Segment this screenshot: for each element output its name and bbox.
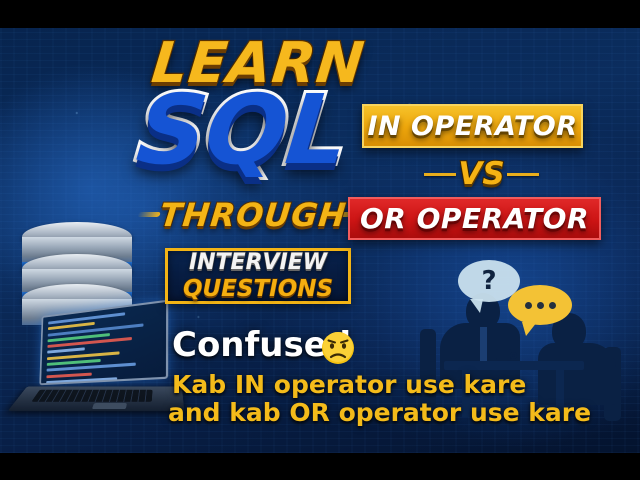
banner-in-operator: IN OPERATOR bbox=[362, 104, 583, 148]
letterbox-bar-top bbox=[0, 0, 640, 28]
question-line-2: and kab OR operator use kare bbox=[168, 400, 591, 425]
banner-or-operator: OR OPERATOR bbox=[348, 197, 601, 240]
question-line-1: Kab IN operator use kare bbox=[172, 372, 526, 397]
laptop-with-code-icon bbox=[18, 308, 183, 428]
versus-line-left bbox=[424, 173, 456, 176]
through-ray-left bbox=[137, 212, 161, 217]
bubble-dot-1 bbox=[525, 302, 532, 309]
dots-speech-bubble bbox=[508, 285, 572, 325]
laptop-keyboard bbox=[31, 390, 152, 402]
confused-face-emoji bbox=[320, 330, 356, 366]
versus-line-right bbox=[507, 173, 539, 176]
youtube-thumbnail: ? LEARN SQL THROUGH INTERVIEW QUESTIONS … bbox=[0, 0, 640, 480]
coffee-cup bbox=[496, 349, 511, 361]
title-through: THROUGH bbox=[158, 199, 348, 231]
person-left-tie bbox=[480, 327, 487, 361]
coffee-cup-handle bbox=[510, 352, 517, 359]
interview-questions-box: INTERVIEW QUESTIONS bbox=[165, 248, 351, 304]
bubble-dot-3 bbox=[549, 302, 556, 309]
versus-label: VS bbox=[458, 159, 504, 190]
laptop-code-lines bbox=[46, 308, 162, 385]
letterbox-bar-bottom bbox=[0, 453, 640, 480]
laptop-screen bbox=[39, 300, 168, 386]
label-interview: INTERVIEW bbox=[189, 252, 327, 274]
question-mark-glyph: ? bbox=[481, 266, 496, 296]
laptop-keyboard-base bbox=[8, 386, 185, 411]
versus-separator: VS bbox=[424, 156, 539, 192]
bubble-dot-2 bbox=[537, 302, 544, 309]
label-questions: QUESTIONS bbox=[183, 278, 333, 301]
laptop-trackpad bbox=[92, 403, 127, 409]
person-right-body bbox=[538, 343, 616, 405]
title-sql: SQL bbox=[133, 82, 352, 178]
